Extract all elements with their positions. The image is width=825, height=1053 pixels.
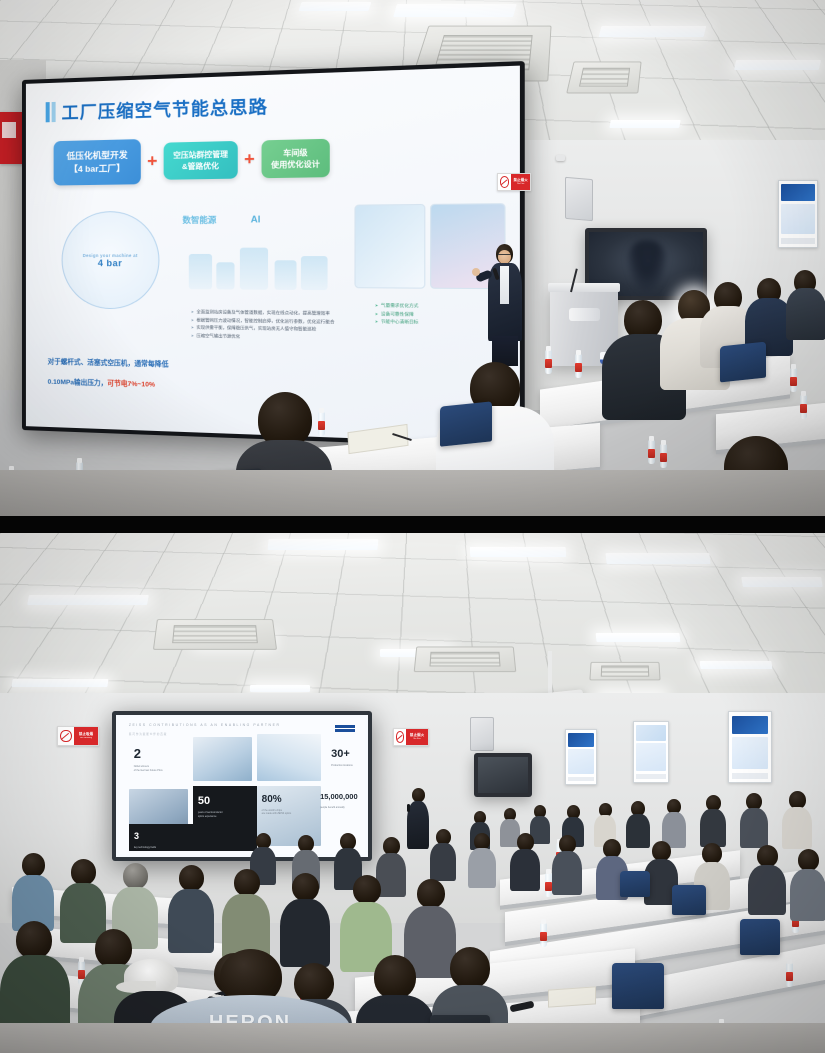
attendee-body xyxy=(168,889,214,953)
water-bottle xyxy=(575,354,582,378)
poster-footer xyxy=(568,777,594,781)
ceiling-light xyxy=(393,4,517,17)
chair xyxy=(672,885,706,915)
attendee-head xyxy=(702,843,722,864)
attendee-head xyxy=(417,879,445,908)
presenter-microphone-icon xyxy=(407,804,410,812)
poster-body xyxy=(781,204,814,234)
attendee-body xyxy=(748,865,786,915)
ceiling-light xyxy=(700,661,773,669)
water-bottle xyxy=(786,963,793,987)
sign-label-en: No Fire xyxy=(517,183,524,185)
ceiling-light xyxy=(27,595,149,605)
presenter-torso xyxy=(407,801,429,849)
plus-icon: + xyxy=(147,154,157,168)
attendee-head xyxy=(179,865,204,891)
panel-divider xyxy=(0,516,825,533)
title-bars-icon xyxy=(46,101,56,121)
no-fire-icon xyxy=(394,729,406,745)
attendee xyxy=(786,270,825,340)
slide-subheader: 蔡司作为赋能伙伴的贡献 xyxy=(129,732,167,736)
circle-diagram-value: 4 bar xyxy=(98,258,122,268)
mid-graphic-shape xyxy=(275,260,297,290)
stat-label: years of semiconductor optics experience xyxy=(198,811,223,818)
water-bottle xyxy=(660,444,667,468)
attendee-head xyxy=(22,853,45,877)
chair xyxy=(612,963,664,1009)
water-bottle xyxy=(648,440,655,464)
projection-screen-frame[interactable]: ZEISS CONTRIBUTIONS AS AN ENABLING PARTN… xyxy=(112,711,372,861)
mid-graphic-digital-energy: 数智能源 AI xyxy=(178,209,341,312)
attendee xyxy=(700,795,726,843)
poster-header xyxy=(636,725,666,741)
key-box-low-pressure: 低压化机型开发 【4 bar工厂】 xyxy=(54,139,141,185)
air-conditioner-vent xyxy=(566,61,641,93)
slide-bullet-list-right: 气量需求优化方式 设备可靠性保障 节能中心清晰目标 xyxy=(375,301,419,326)
poster-body xyxy=(636,743,666,771)
poster-body xyxy=(732,737,769,769)
notebook xyxy=(548,986,596,1007)
poster-header xyxy=(781,184,814,201)
attendee-body xyxy=(700,809,726,847)
no-fire-sign: 禁止烟火 No Fire xyxy=(511,174,530,190)
attendee-head xyxy=(123,863,148,889)
plus-icon: + xyxy=(244,152,255,166)
right-card-graphic xyxy=(354,204,425,289)
slide-image xyxy=(193,737,252,781)
attendee-body xyxy=(510,849,540,891)
safety-sign-group: 禁止烟火 No Fire xyxy=(497,173,531,191)
poster-footer xyxy=(732,773,769,779)
bottom-note-text-2: 0.10MPa输出压力， xyxy=(48,379,108,388)
attendee-head xyxy=(71,859,96,885)
wall-sign-left-red xyxy=(0,112,24,164)
chair xyxy=(740,919,780,955)
attendee xyxy=(510,833,540,887)
stat-number: 80% xyxy=(262,794,282,805)
attendee-head xyxy=(450,947,490,989)
mid-graphic-shape xyxy=(216,262,234,289)
stat-block: 3 key technology fields xyxy=(134,826,156,850)
ceiling-light xyxy=(605,553,710,564)
projection-slide-surface: ZEISS CONTRIBUTIONS AS AN ENABLING PARTN… xyxy=(116,715,368,857)
safety-sign-group: 禁止烟火 No Fire xyxy=(393,728,429,746)
wall-speaker xyxy=(470,717,494,751)
attendee xyxy=(168,865,214,949)
water-bottle xyxy=(545,873,552,897)
ceiling-light xyxy=(741,577,823,587)
attendee xyxy=(748,845,786,911)
wall-poster xyxy=(778,180,818,248)
slide-bottom-note-line1: 对于螺杆式、活塞式空压机，通常每降低 xyxy=(48,357,169,373)
poster-footer xyxy=(781,238,814,243)
attendee-head xyxy=(757,845,778,867)
photo-composite: 工厂压缩空气节能总思路 低压化机型开发 【4 bar工厂】 + 空压站群控管理 … xyxy=(0,0,825,1053)
slide-dark-panel: 3 key technology fields xyxy=(129,824,257,851)
stat-number: 2 xyxy=(134,746,141,761)
attendee xyxy=(782,791,812,845)
no-fire-sign: 禁止烟火 No Fire xyxy=(406,729,428,745)
slide-bullet-list: 全面监测站房设备及气体管道数据，实现在线点动化，提高管理效率 根据管网压力波动情… xyxy=(191,308,335,342)
presenter-glasses-icon xyxy=(498,254,511,256)
floor xyxy=(0,1023,825,1053)
security-camera-icon xyxy=(556,155,565,161)
attendee xyxy=(222,869,270,955)
key-box-group-control: 空压站群控管理 &管路优化 xyxy=(164,141,238,180)
water-bottle xyxy=(540,923,547,947)
ceiling-light xyxy=(609,120,680,128)
sign-label-en: No Fire xyxy=(414,738,421,740)
tv-screen xyxy=(478,757,528,793)
tv-silhouette xyxy=(626,240,667,293)
bottom-note-highlight: 可节电7%~10% xyxy=(107,380,155,388)
mid-graphic-label-ai: AI xyxy=(251,214,261,225)
attendee xyxy=(340,875,392,967)
slide-header: ZEISS CONTRIBUTIONS AS AN ENABLING PARTN… xyxy=(129,723,281,727)
stat-label: Nobel winners of the German Future Prize xyxy=(134,765,163,772)
mid-graphic-shape xyxy=(240,248,268,290)
slide-key-boxes: 低压化机型开发 【4 bar工厂】 + 空压站群控管理 &管路优化 + 车间级 … xyxy=(54,134,330,185)
wall-poster xyxy=(565,729,597,785)
chair xyxy=(620,871,650,897)
stat-block: 80% of the world's chips are made with Z… xyxy=(262,789,292,816)
attendee-head xyxy=(652,841,671,861)
ceiling-light xyxy=(734,60,821,70)
attendee-head xyxy=(798,849,819,871)
attendee-body xyxy=(740,808,768,848)
poster-body xyxy=(568,749,594,774)
attendee xyxy=(430,829,456,877)
attendee-head xyxy=(292,873,319,901)
presenter-shirt xyxy=(500,266,509,304)
ceiling-light xyxy=(470,547,567,557)
mid-graphic-shape xyxy=(301,256,328,290)
chair xyxy=(440,401,492,446)
chair xyxy=(720,342,766,383)
stat-label: Production locations xyxy=(331,764,353,768)
stat-label: people benefit annually xyxy=(320,806,358,810)
attendee-body xyxy=(552,851,582,895)
bottom-note-text-1: 对于螺杆式、活塞式空压机，通常每降低 xyxy=(48,359,169,369)
mid-graphic-shape xyxy=(189,254,212,289)
attendee-head xyxy=(353,875,381,904)
attendee-head xyxy=(234,869,260,896)
mid-graphic-label-cn: 数智能源 xyxy=(182,214,216,226)
slide-title: 工厂压缩空气节能总思路 xyxy=(62,92,268,124)
wall-poster xyxy=(633,721,669,783)
ceiling-light xyxy=(11,679,108,687)
wall-poster xyxy=(728,711,772,783)
ceiling-light xyxy=(599,26,707,37)
stat-block: 15,000,000 people benefit annually xyxy=(320,786,358,810)
attendee xyxy=(12,853,54,927)
slide-image xyxy=(257,734,321,780)
no-smoking-sign: 禁止吸烟 No Smoking xyxy=(74,727,98,745)
attendee xyxy=(468,833,496,885)
stat-label: key technology fields xyxy=(134,846,156,850)
no-smoking-symbol xyxy=(60,730,71,743)
photo-panel-bottom: ZEISS CONTRIBUTIONS AS AN ENABLING PARTN… xyxy=(0,533,825,1053)
air-conditioner-vent xyxy=(589,662,660,681)
circle-diagram-4bar: Design your machine at 4 bar xyxy=(62,211,160,310)
photo-panel-top: 工厂压缩空气节能总思路 低压化机型开发 【4 bar工厂】 + 空压站群控管理 … xyxy=(0,0,825,516)
stat-label: of the world's chips are made with ZEISS… xyxy=(262,809,292,816)
bullet-item: 节能中心清晰目标 xyxy=(375,318,419,327)
ceiling-light xyxy=(596,633,681,642)
stat-number: 3 xyxy=(134,831,139,841)
no-fire-symbol xyxy=(396,731,405,742)
wall-display-tv[interactable] xyxy=(474,753,532,797)
stat-number: 30+ xyxy=(331,748,350,760)
wall-speaker xyxy=(565,177,593,221)
attendee-body xyxy=(786,288,825,340)
key-box-workshop-design: 车间级 使用优化设计 xyxy=(261,139,330,179)
attendee-head xyxy=(16,921,52,959)
presenter xyxy=(405,788,431,850)
slide-bottom-note-line2: 0.10MPa输出压力，可节电7%~10% xyxy=(48,377,155,393)
poster-header xyxy=(732,716,769,734)
poster-footer xyxy=(636,774,666,779)
bullet-item: 气量需求优化方式 xyxy=(375,301,419,310)
slide-title-row: 工厂压缩空气节能总思路 xyxy=(46,92,268,125)
stat-block: 2 Nobel winners of the German Future Pri… xyxy=(134,745,163,772)
no-smoking-icon xyxy=(58,727,74,745)
right-card-art xyxy=(356,205,425,288)
presenter-face xyxy=(498,250,511,264)
presenter-hand xyxy=(472,268,480,276)
zeiss-logo xyxy=(335,725,355,732)
ceiling-light xyxy=(299,2,372,11)
podium-logo xyxy=(569,308,600,320)
presenter-head xyxy=(412,788,425,802)
attendee xyxy=(280,873,330,963)
attendee-body xyxy=(430,843,456,881)
air-conditioner-vent xyxy=(414,647,517,673)
air-conditioner-vent xyxy=(153,619,277,650)
wall-sign-left-red-text xyxy=(2,122,16,138)
zeiss-slide: ZEISS CONTRIBUTIONS AS AN ENABLING PARTN… xyxy=(119,718,365,854)
stat-number: 15,000,000 xyxy=(320,792,358,801)
attendee xyxy=(626,801,650,845)
attendee-head xyxy=(374,955,416,999)
no-smoking-symbol xyxy=(500,176,509,187)
poster-header xyxy=(568,733,594,747)
attendee-body xyxy=(790,869,825,921)
attendee-body xyxy=(782,807,812,849)
attendee xyxy=(790,849,825,917)
presenter xyxy=(480,244,528,364)
attendee-body xyxy=(280,899,330,967)
floor xyxy=(0,470,825,516)
no-smoking-icon xyxy=(498,174,511,190)
ceiling-light xyxy=(268,539,379,550)
attendee xyxy=(552,835,582,891)
stat-number: 50 xyxy=(198,795,210,807)
water-bottle xyxy=(790,368,797,392)
attendee-body xyxy=(468,848,496,888)
ceiling-light xyxy=(250,685,310,692)
sign-label-en: No Smoking xyxy=(80,737,92,739)
attendee xyxy=(740,793,768,843)
attendee xyxy=(662,799,686,845)
stat-block: 50 years of semiconductor optics experie… xyxy=(198,791,223,818)
podium-top-surface xyxy=(548,283,620,292)
stat-block: 30+ Production locations xyxy=(331,744,353,768)
safety-sign-group: 禁止吸烟 No Smoking xyxy=(57,726,99,746)
water-bottle xyxy=(800,395,807,419)
